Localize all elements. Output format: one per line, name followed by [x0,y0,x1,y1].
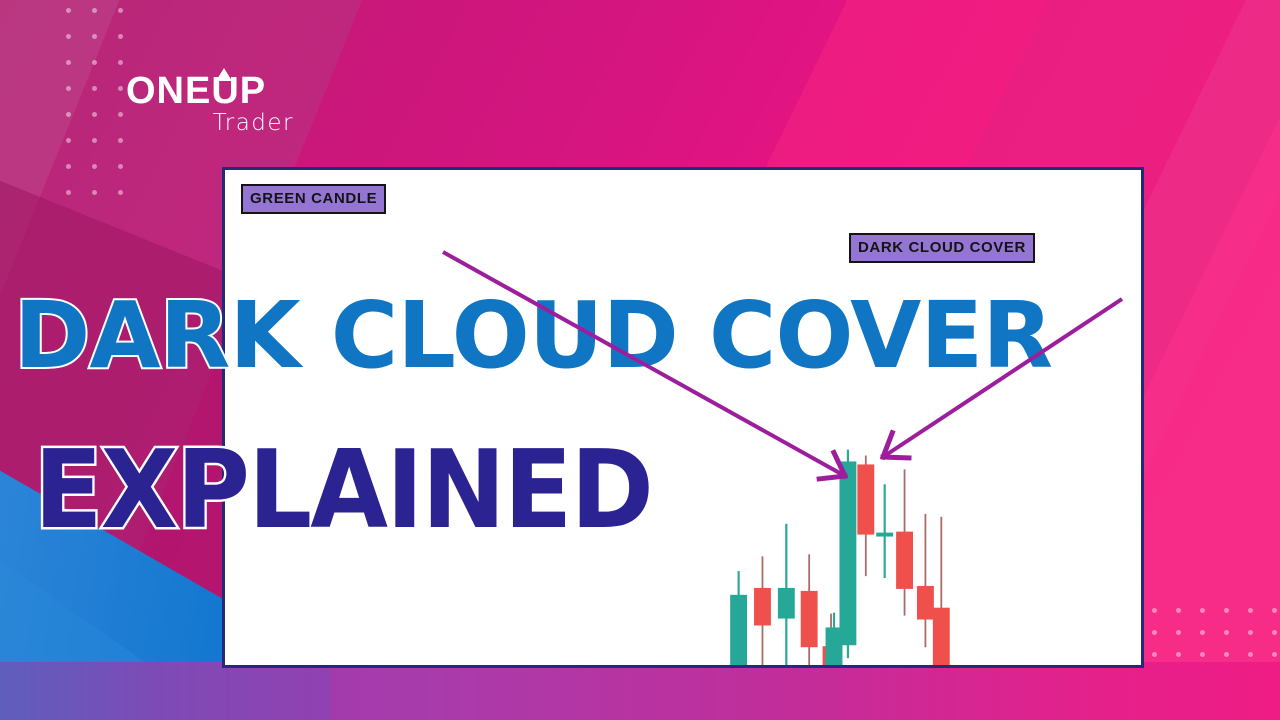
page-title: DARK CLOUD COVER [14,290,1052,382]
candlestick [801,554,818,665]
candlestick [730,571,747,665]
up-caret-icon [216,68,232,81]
brand-logo: ONEUP Trader [126,72,296,140]
candlestick [857,456,874,577]
page-subtitle: EXPLAINED [34,437,652,545]
candlestick [839,450,856,658]
candlestick [896,469,913,615]
dot-grid-icon [1152,608,1280,658]
candlestick [917,514,934,647]
brand-name-top: ONEUP [126,72,296,110]
candlestick [754,556,771,665]
candlestick [876,484,893,578]
chart-panel: GREEN CANDLE DARK CLOUD COVER [222,167,1144,668]
bottom-color-band-blue [0,662,330,720]
candlestick [933,517,950,665]
label-dark-cloud-cover: DARK CLOUD COVER [849,233,1035,263]
candlestick [778,524,795,665]
label-green-candle: GREEN CANDLE [241,184,386,214]
brand-name-bottom: Trader [126,110,296,136]
